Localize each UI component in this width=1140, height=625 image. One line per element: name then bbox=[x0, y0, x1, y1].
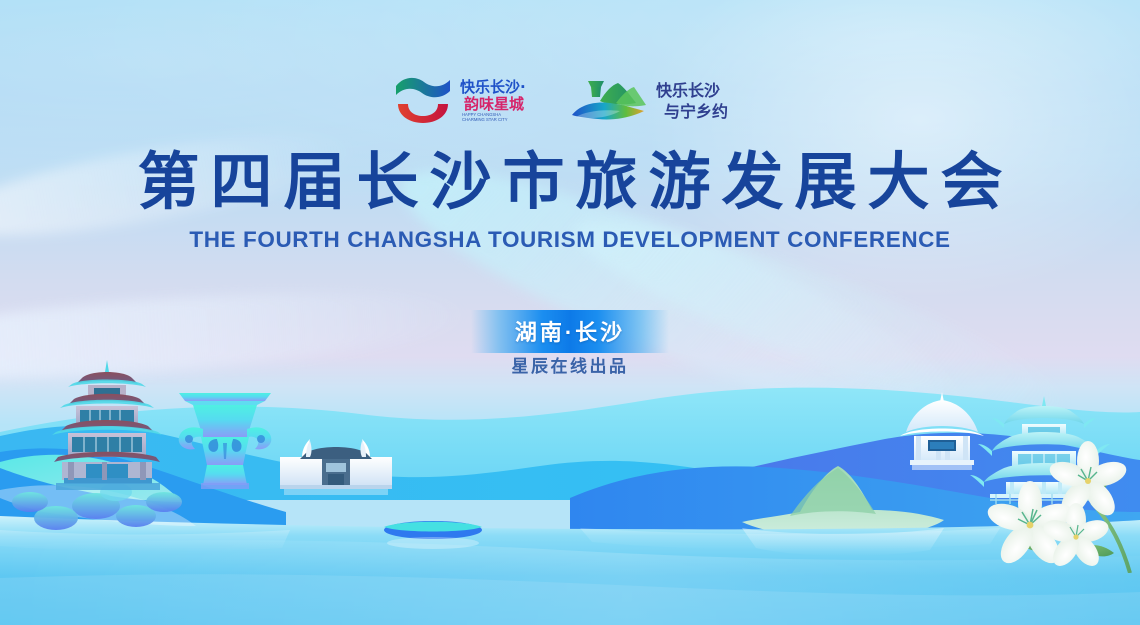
logo-en-line2: CHARMING STAR CITY bbox=[462, 117, 508, 122]
four-ram-square-zun bbox=[173, 381, 277, 491]
title-block: 第四届长沙市旅游发展大会 THE FOURTH CHANGSHA TOURISM… bbox=[0, 150, 1140, 253]
location-badge-wrap: 湖南·长沙 bbox=[0, 310, 1140, 353]
changsha-smile-mark bbox=[394, 74, 452, 124]
logo-cn-line2: 韵味星城 bbox=[464, 95, 524, 113]
boat bbox=[384, 521, 482, 549]
ningxiang-cn-line2: 与宁乡约 bbox=[664, 102, 728, 121]
page-title: 第四届长沙市旅游发展大会 bbox=[0, 150, 1140, 217]
ningxiang-hill-mark bbox=[570, 75, 646, 123]
producer-credit: 星辰在线出品 bbox=[0, 352, 1140, 377]
jasmine-flowers bbox=[980, 433, 1140, 573]
page-subtitle: THE FOURTH CHANGSHA TOURISM DEVELOPMENT … bbox=[0, 227, 1140, 253]
changsha-slogan-art: 快乐长沙· 韵味星城 HAPPY CHANGSHA CHARMING STAR … bbox=[458, 74, 540, 124]
ningxiang-cn-line1: 快乐长沙 bbox=[656, 81, 720, 100]
status-badge: 湖南·长沙 bbox=[471, 310, 669, 353]
happy-changsha-logo[interactable]: 快乐长沙· 韵味星城 HAPPY CHANGSHA CHARMING STAR … bbox=[394, 74, 540, 124]
yuelu-academy-gate bbox=[276, 437, 396, 495]
ningxiang-slogan-art: 快乐长沙 与宁乡约 bbox=[652, 75, 746, 123]
logo-cn-line1: 快乐长沙· bbox=[460, 78, 526, 96]
conference-poster: 快乐长沙· 韵味星城 HAPPY CHANGSHA CHARMING STAR … bbox=[0, 0, 1140, 625]
ningxiang-logo[interactable]: 快乐长沙 与宁乡约 bbox=[570, 75, 746, 123]
logo-row: 快乐长沙· 韵味星城 HAPPY CHANGSHA CHARMING STAR … bbox=[0, 74, 1140, 124]
